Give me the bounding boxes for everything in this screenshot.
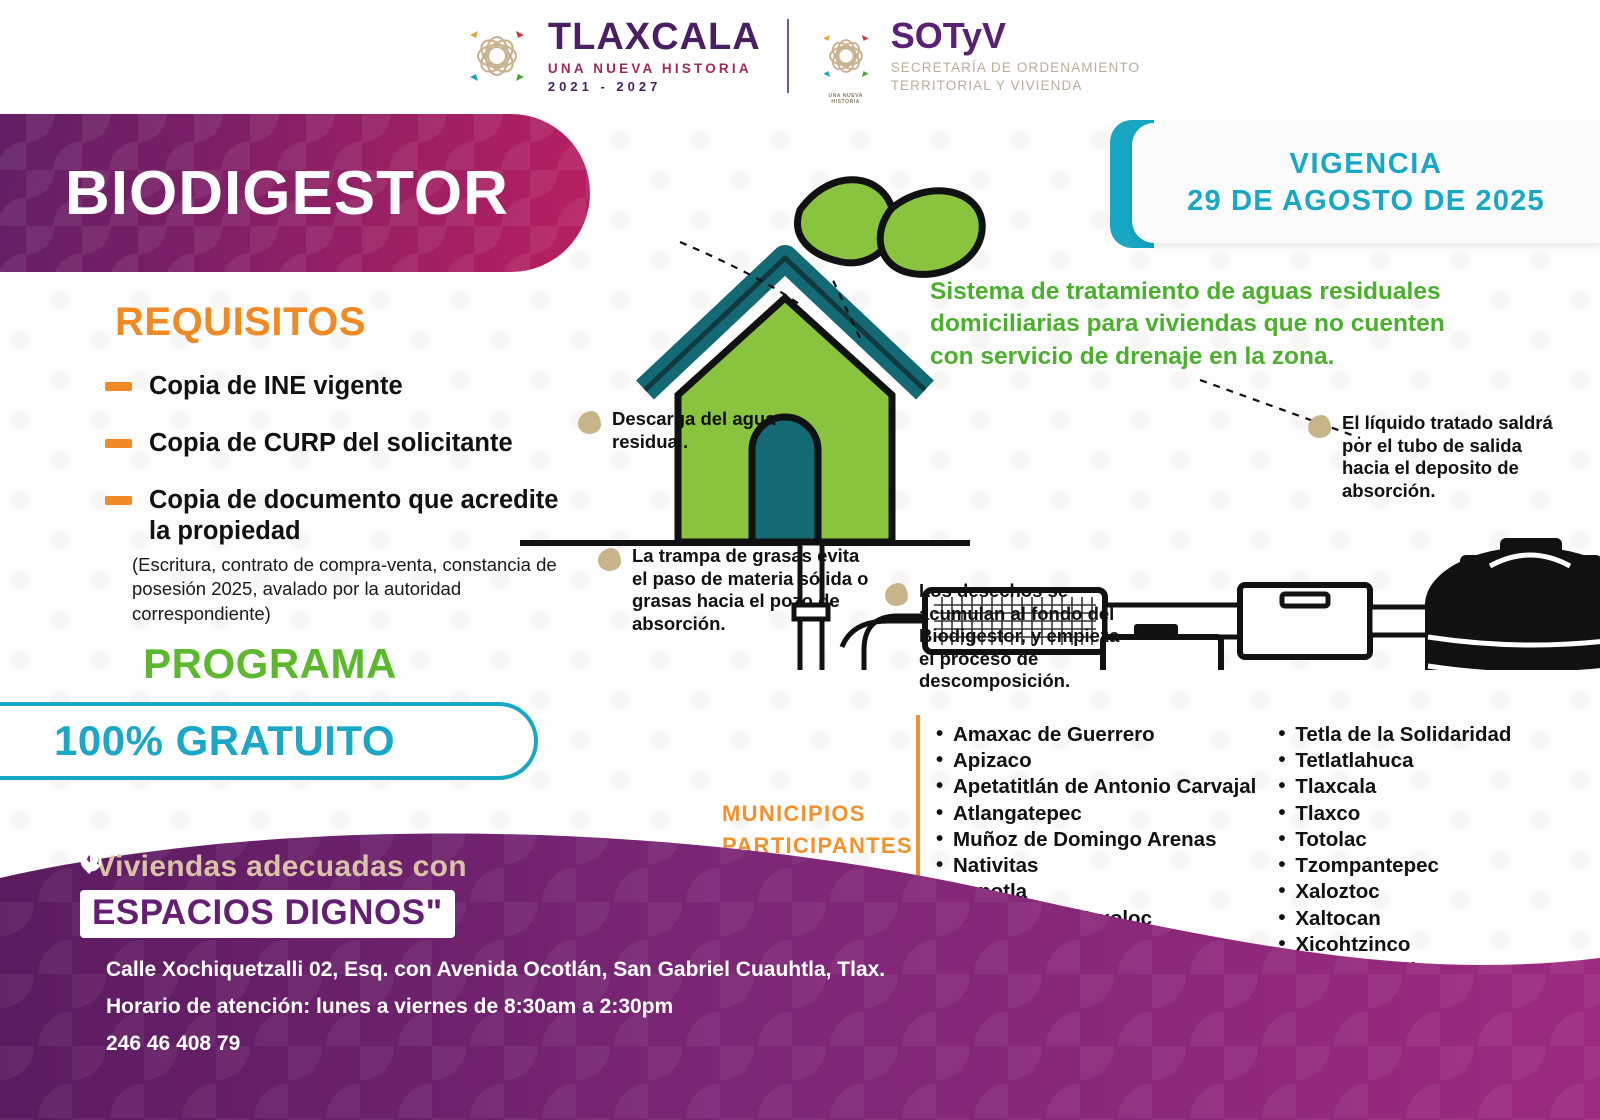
tlaxcala-tagline: UNA NUEVA HISTORIA xyxy=(548,61,761,76)
municipio-item: Tlaxcala xyxy=(1278,774,1511,800)
footer-content: “Viviendas adecuadas con ESPACIOS DIGNOS… xyxy=(80,850,885,1056)
callout-text: Descarga del agua residual. xyxy=(612,408,808,453)
municipio-item: Tlaxco xyxy=(1278,801,1511,827)
municipio-item: Tetlatlahuca xyxy=(1278,748,1511,774)
requisito-item: Copia de INE vigente xyxy=(105,371,575,402)
leaf-bullet-icon xyxy=(885,583,908,606)
contact-phone-row: 246 46 408 79 xyxy=(80,1032,885,1056)
vigencia-date: 29 DE AGOSTO DE 2025 xyxy=(1187,185,1545,218)
bullet-dash-icon xyxy=(105,439,132,448)
leaf-bullet-icon xyxy=(1308,415,1331,438)
contact-address: Calle Xochiquetzalli 02, Esq. con Avenid… xyxy=(106,958,885,982)
tlaxcala-years: 2021 - 2027 xyxy=(548,79,761,94)
footer-quote-box: ESPACIOS DIGNOS" xyxy=(80,890,455,938)
contact-info: Calle Xochiquetzalli 02, Esq. con Avenid… xyxy=(80,958,885,1056)
requisitos-section: REQUISITOS Copia de INE vigente Copia de… xyxy=(105,300,575,626)
page-title: BIODIGESTOR xyxy=(65,158,509,229)
municipio-item: Apetatitlán de Antonio Carvajal xyxy=(936,774,1256,800)
tlaxcala-rosette-wrapper xyxy=(460,19,534,93)
biodigester-tank xyxy=(1425,538,1600,670)
contact-address-row: Calle Xochiquetzalli 02, Esq. con Avenid… xyxy=(80,958,885,982)
sotyv-rosette-wrapper: UNA NUEVA HISTORIA xyxy=(815,25,877,87)
municipio-item: Amaxac de Guerrero xyxy=(936,722,1256,748)
bullet-dash-icon xyxy=(105,496,132,505)
program-description: Sistema de tratamiento de aguas residual… xyxy=(930,276,1470,373)
sotyv-line2: TERRITORIAL Y VIVIENDA xyxy=(891,77,1140,95)
requisito-text: Copia de documento que acredite la propi… xyxy=(149,485,575,547)
programa-title: PROGRAMA xyxy=(0,640,540,688)
header-divider xyxy=(787,19,789,93)
sotyv-rosette-sub: UNA NUEVA HISTORIA xyxy=(815,93,877,105)
requisito-note: (Escritura, contrato de compra-venta, co… xyxy=(132,553,575,625)
callout-liquido-tratado: El líquido tratado saldrá por el tubo de… xyxy=(1308,412,1558,502)
leaf-bullet-icon xyxy=(578,411,601,434)
municipio-item: Apizaco xyxy=(936,748,1256,774)
tlaxcala-name: TLAXCALA xyxy=(548,18,761,56)
requisito-item: Copia de documento que acredite la propi… xyxy=(105,485,575,625)
gratuito-badge: 100% GRATUITO xyxy=(0,702,538,780)
contact-schedule: Horario de atención: lunes a viernes de … xyxy=(106,995,673,1019)
footer: “Viviendas adecuadas con ESPACIOS DIGNOS… xyxy=(0,830,1600,1120)
callout-text: Los desechos se acumulan al fondo del Bi… xyxy=(919,580,1125,693)
rosette-icon: UNA NUEVA HISTORIA xyxy=(815,25,877,87)
biodigestor-banner: BIODIGESTOR xyxy=(0,114,590,272)
requisito-text: Copia de INE vigente xyxy=(149,371,403,402)
contact-schedule-row: Horario de atención: lunes a viernes de … xyxy=(80,995,885,1019)
leaf-right-icon xyxy=(880,191,982,275)
header-logos: TLAXCALA UNA NUEVA HISTORIA 2021 - 2027 xyxy=(0,0,1600,112)
municipio-item: Atlangatepec xyxy=(936,801,1256,827)
requisitos-title: REQUISITOS xyxy=(115,300,575,345)
municipios-label-line1: MUNICIPIOS xyxy=(722,798,913,830)
vigencia-label: VIGENCIA xyxy=(1290,148,1443,181)
poster-root: TLAXCALA UNA NUEVA HISTORIA 2021 - 2027 xyxy=(0,0,1600,1120)
callout-trampa-grasas: La trampa de grasas evita el paso de mat… xyxy=(598,545,878,635)
footer-quote-line1: “Viviendas adecuadas con xyxy=(80,850,885,884)
requisito-item: Copia de CURP del solicitante xyxy=(105,428,575,459)
tlaxcala-logo: TLAXCALA UNA NUEVA HISTORIA 2021 - 2027 xyxy=(460,18,761,94)
vigencia-banner: VIGENCIA 29 DE AGOSTO DE 2025 xyxy=(1110,120,1600,248)
vigencia-box: VIGENCIA 29 DE AGOSTO DE 2025 xyxy=(1132,123,1600,243)
callout-descarga: Descarga del agua residual. xyxy=(578,408,808,453)
bullet-dash-icon xyxy=(105,382,132,391)
callout-desechos: Los desechos se acumulan al fondo del Bi… xyxy=(885,580,1125,693)
sotyv-line1: SECRETARÍA DE ORDENAMIENTO xyxy=(891,59,1140,77)
programa-section: PROGRAMA 100% GRATUITO xyxy=(0,640,540,780)
requisito-text: Copia de CURP del solicitante xyxy=(149,428,513,459)
sotyv-acronym: SOTyV xyxy=(891,18,1140,54)
tlaxcala-wordmark: TLAXCALA UNA NUEVA HISTORIA 2021 - 2027 xyxy=(548,18,761,94)
callout-text: La trampa de grasas evita el paso de mat… xyxy=(632,545,878,635)
footer-quote-line2: ESPACIOS DIGNOS" xyxy=(92,893,443,932)
leaf-bullet-icon xyxy=(598,548,621,571)
sotyv-wordmark: SOTyV SECRETARÍA DE ORDENAMIENTO TERRITO… xyxy=(891,18,1140,95)
rosette-icon xyxy=(460,19,534,93)
gratuito-label: 100% GRATUITO xyxy=(54,717,395,765)
contact-phone: 246 46 408 79 xyxy=(106,1032,240,1056)
municipio-item: Tetla de la Solidaridad xyxy=(1278,722,1511,748)
callout-text: El líquido tratado saldrá por el tubo de… xyxy=(1342,412,1558,502)
sotyv-logo: UNA NUEVA HISTORIA SOTyV SECRETARÍA DE O… xyxy=(815,18,1140,95)
